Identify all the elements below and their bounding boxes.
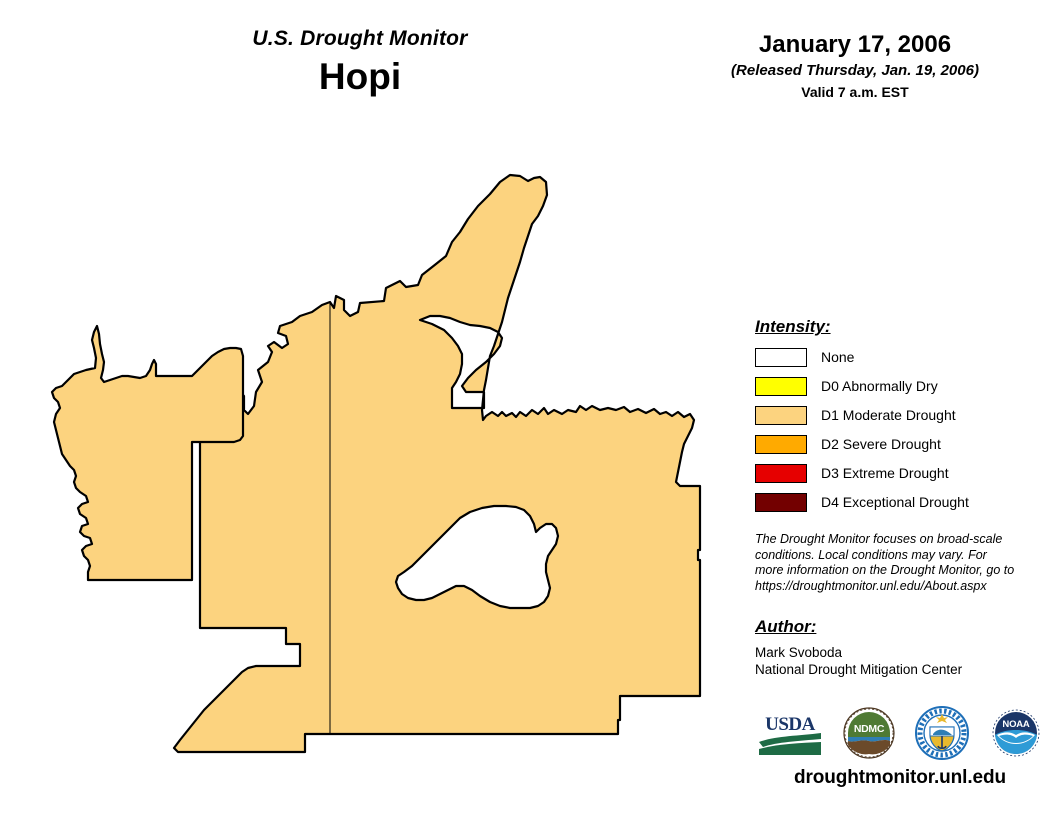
noaa-logo: NOAA [990,708,1042,758]
legend-item-d3[interactable]: D3 Extreme Drought [755,461,1045,485]
svg-text:NDMC: NDMC [854,723,885,735]
legend-swatch-d0 [755,377,807,396]
legend-item-d0[interactable]: D0 Abnormally Dry [755,374,1045,398]
author-name: Mark Svoboda [755,644,1045,661]
legend-panel: Intensity: None D0 Abnormally Dry D1 Mod… [755,316,1045,678]
legend-swatch-d1 [755,406,807,425]
area-title: Hopi [150,54,570,100]
date-block: January 17, 2006 (Released Thursday, Jan… [690,30,1020,102]
map-svg [0,120,740,810]
legend-label-d1: D1 Moderate Drought [821,406,956,424]
site-url[interactable]: droughtmonitor.unl.edu [755,767,1045,789]
author-heading: Author: [755,616,1045,638]
usda-logo: USDA [757,709,823,757]
legend-item-d1[interactable]: D1 Moderate Drought [755,403,1045,427]
svg-text:NOAA: NOAA [1002,719,1030,730]
author-organization: National Drought Mitigation Center [755,661,1045,678]
page-title: U.S. Drought Monitor [150,26,570,52]
legend-label-d2: D2 Severe Drought [821,435,941,453]
legend-list: None D0 Abnormally Dry D1 Moderate Droug… [755,345,1045,514]
legend-item-none[interactable]: None [755,345,1045,369]
legend-swatch-d2 [755,435,807,454]
date-released: (Released Thursday, Jan. 19, 2006) [690,61,1020,81]
intensity-heading: Intensity: [755,316,1045,338]
author-info: Mark Svoboda National Drought Mitigation… [755,644,1045,678]
logo-row: USDA NDMC NOAA [757,704,1042,762]
svg-text:USDA: USDA [765,714,816,735]
commerce-seal-logo [914,705,970,761]
legend-label-d0: D0 Abnormally Dry [821,377,938,395]
legend-swatch-d3 [755,464,807,483]
legend-label-none: None [821,348,854,366]
legend-item-d4[interactable]: D4 Exceptional Drought [755,490,1045,514]
ndmc-logo: NDMC [843,707,895,759]
hopi-main-reservation-shape[interactable] [174,175,700,752]
date-main: January 17, 2006 [690,30,1020,60]
legend-label-d4: D4 Exceptional Drought [821,493,969,511]
legend-label-d3: D3 Extreme Drought [821,464,949,482]
drought-map[interactable] [0,120,740,810]
title-block: U.S. Drought Monitor Hopi [150,26,570,100]
legend-item-d2[interactable]: D2 Severe Drought [755,432,1045,456]
legend-swatch-none [755,348,807,367]
legend-swatch-d4 [755,493,807,512]
disclaimer-text: The Drought Monitor focuses on broad-sca… [755,532,1017,594]
date-valid: Valid 7 a.m. EST [690,83,1020,102]
